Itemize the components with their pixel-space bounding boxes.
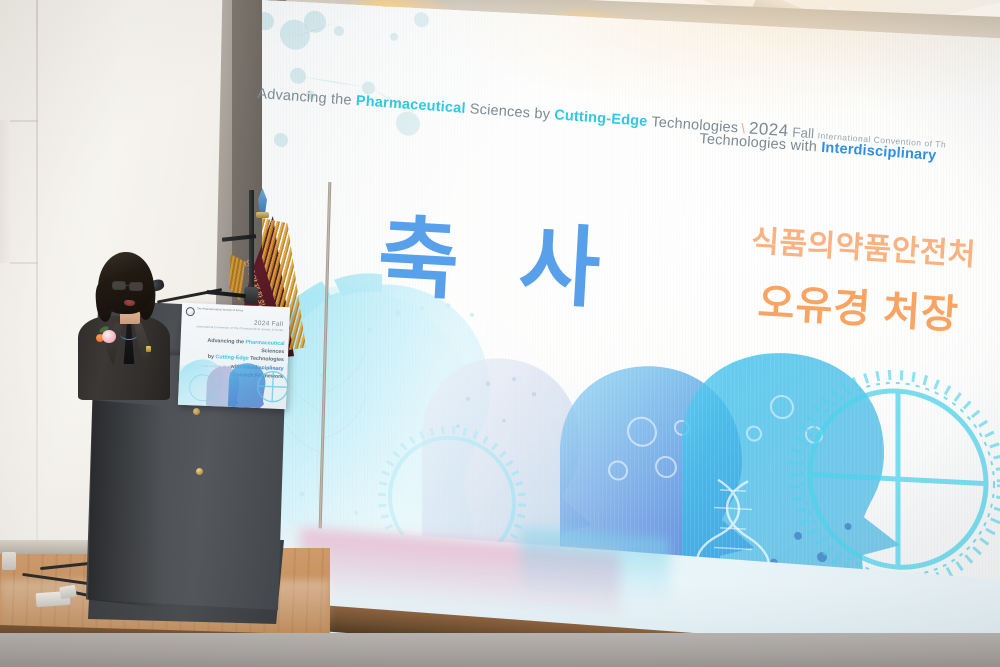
pp-h1: Advancing the bbox=[207, 338, 245, 346]
molecule-dot bbox=[274, 133, 288, 148]
molecule-dot bbox=[390, 33, 398, 41]
wall-panel bbox=[0, 120, 12, 263]
molecule-dot bbox=[334, 26, 344, 37]
poster-year-block: 2024 Fall International Convention of Th… bbox=[196, 317, 283, 332]
conference-photo-scene: Advancing the Pharmaceutical Sciences by… bbox=[0, 0, 1000, 667]
society-emblem-icon bbox=[186, 307, 195, 316]
floor-front-strip bbox=[0, 633, 1000, 667]
wall-outlet bbox=[2, 552, 16, 570]
podium-shadow bbox=[88, 400, 164, 608]
society-name: The Pharmaceutical Society of Korea bbox=[197, 307, 243, 312]
slide-title-congratulatory-address: 축 사 bbox=[375, 186, 622, 326]
poster-head-artwork bbox=[178, 351, 288, 409]
glasses-bridge bbox=[126, 285, 130, 286]
molecule-dot bbox=[396, 111, 420, 136]
flag-finial-base bbox=[256, 212, 269, 218]
header-text-4: by bbox=[534, 106, 555, 123]
header-with: with bbox=[790, 138, 822, 156]
molecule-dot bbox=[414, 12, 429, 28]
wall-seam bbox=[10, 262, 38, 264]
stage-reflection-cyan bbox=[520, 528, 670, 607]
glasses-lens-right bbox=[129, 282, 143, 291]
microphone-stand-pole bbox=[249, 190, 254, 300]
wall-seam bbox=[36, 0, 38, 596]
speaker-lapel-badge bbox=[146, 346, 151, 352]
wall-seam bbox=[10, 120, 38, 122]
podium-poster-panel: The Pharmaceutical Society of Korea 2024… bbox=[178, 303, 290, 409]
corsage-flower bbox=[102, 330, 116, 343]
podium-hinge bbox=[196, 468, 203, 475]
poster-convention-line: International Convention of The Pharmace… bbox=[196, 324, 283, 332]
glasses-lens-left bbox=[112, 281, 126, 290]
podium-hinge bbox=[193, 408, 200, 415]
pp-h2: Pharmaceutical bbox=[245, 339, 284, 347]
